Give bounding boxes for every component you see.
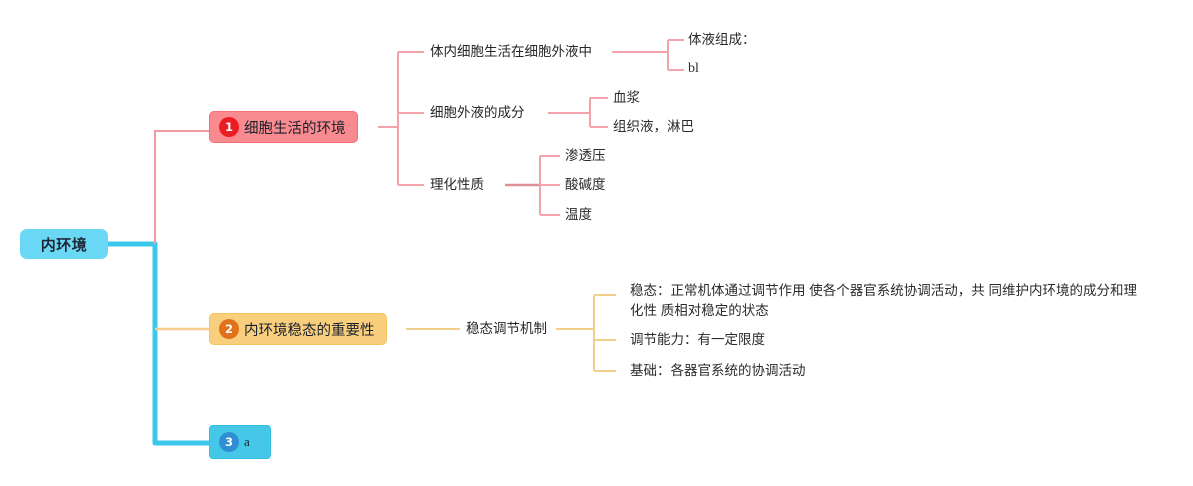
topic-b2-c1[interactable]: 稳态调节机制 — [466, 320, 547, 338]
branch-1-badge: 1 — [219, 117, 239, 137]
topic-b1-c2[interactable]: 细胞外液的成分 — [430, 104, 525, 122]
leaf-b1-c1-2[interactable]: bl — [688, 60, 699, 79]
leaf-b2-c1-2[interactable]: 调节能力：有一定限度 — [630, 331, 765, 349]
branch-2-badge: 2 — [219, 319, 239, 339]
branch-3-badge: 3 — [219, 432, 239, 452]
leaf-b1-c3-2[interactable]: 酸碱度 — [565, 176, 606, 194]
leaf-b1-c3-1[interactable]: 渗透压 — [565, 147, 606, 165]
connector-layer — [0, 0, 1193, 486]
branch-node-1[interactable]: 1 细胞生活的环境 — [209, 111, 358, 143]
branch-node-2[interactable]: 2 内环境稳态的重要性 — [209, 313, 387, 345]
mindmap-canvas: 内环境 1 细胞生活的环境 2 内环境稳态的重要性 3 a 体内细胞生活在细胞外… — [0, 0, 1193, 486]
leaf-b1-c2-1[interactable]: 血浆 — [613, 89, 640, 107]
root-node[interactable]: 内环境 — [20, 229, 108, 259]
edge-spine-branch1 — [155, 131, 209, 244]
leaf-b1-c3-3[interactable]: 温度 — [565, 206, 592, 224]
leaf-b2-c1-1[interactable]: 稳态：正常机体通过调节作用 使各个器官系统协调活动，共 同维护内环境的成分和理化… — [630, 281, 1150, 322]
topic-b1-c3[interactable]: 理化性质 — [430, 176, 484, 194]
topic-b1-c1[interactable]: 体内细胞生活在细胞外液中 — [430, 43, 592, 61]
branch-3-label: a — [244, 434, 250, 450]
branch-1-label: 细胞生活的环境 — [244, 117, 346, 138]
leaf-b2-c1-3[interactable]: 基础：各器官系统的协调活动 — [630, 362, 806, 380]
branch-2-label: 内环境稳态的重要性 — [244, 319, 375, 340]
branch-node-3[interactable]: 3 a — [209, 425, 271, 459]
leaf-b1-c2-2[interactable]: 组织液，淋巴 — [613, 118, 694, 136]
root-node-label: 内环境 — [41, 234, 88, 255]
leaf-b1-c1-1[interactable]: 体液组成： — [688, 31, 756, 49]
